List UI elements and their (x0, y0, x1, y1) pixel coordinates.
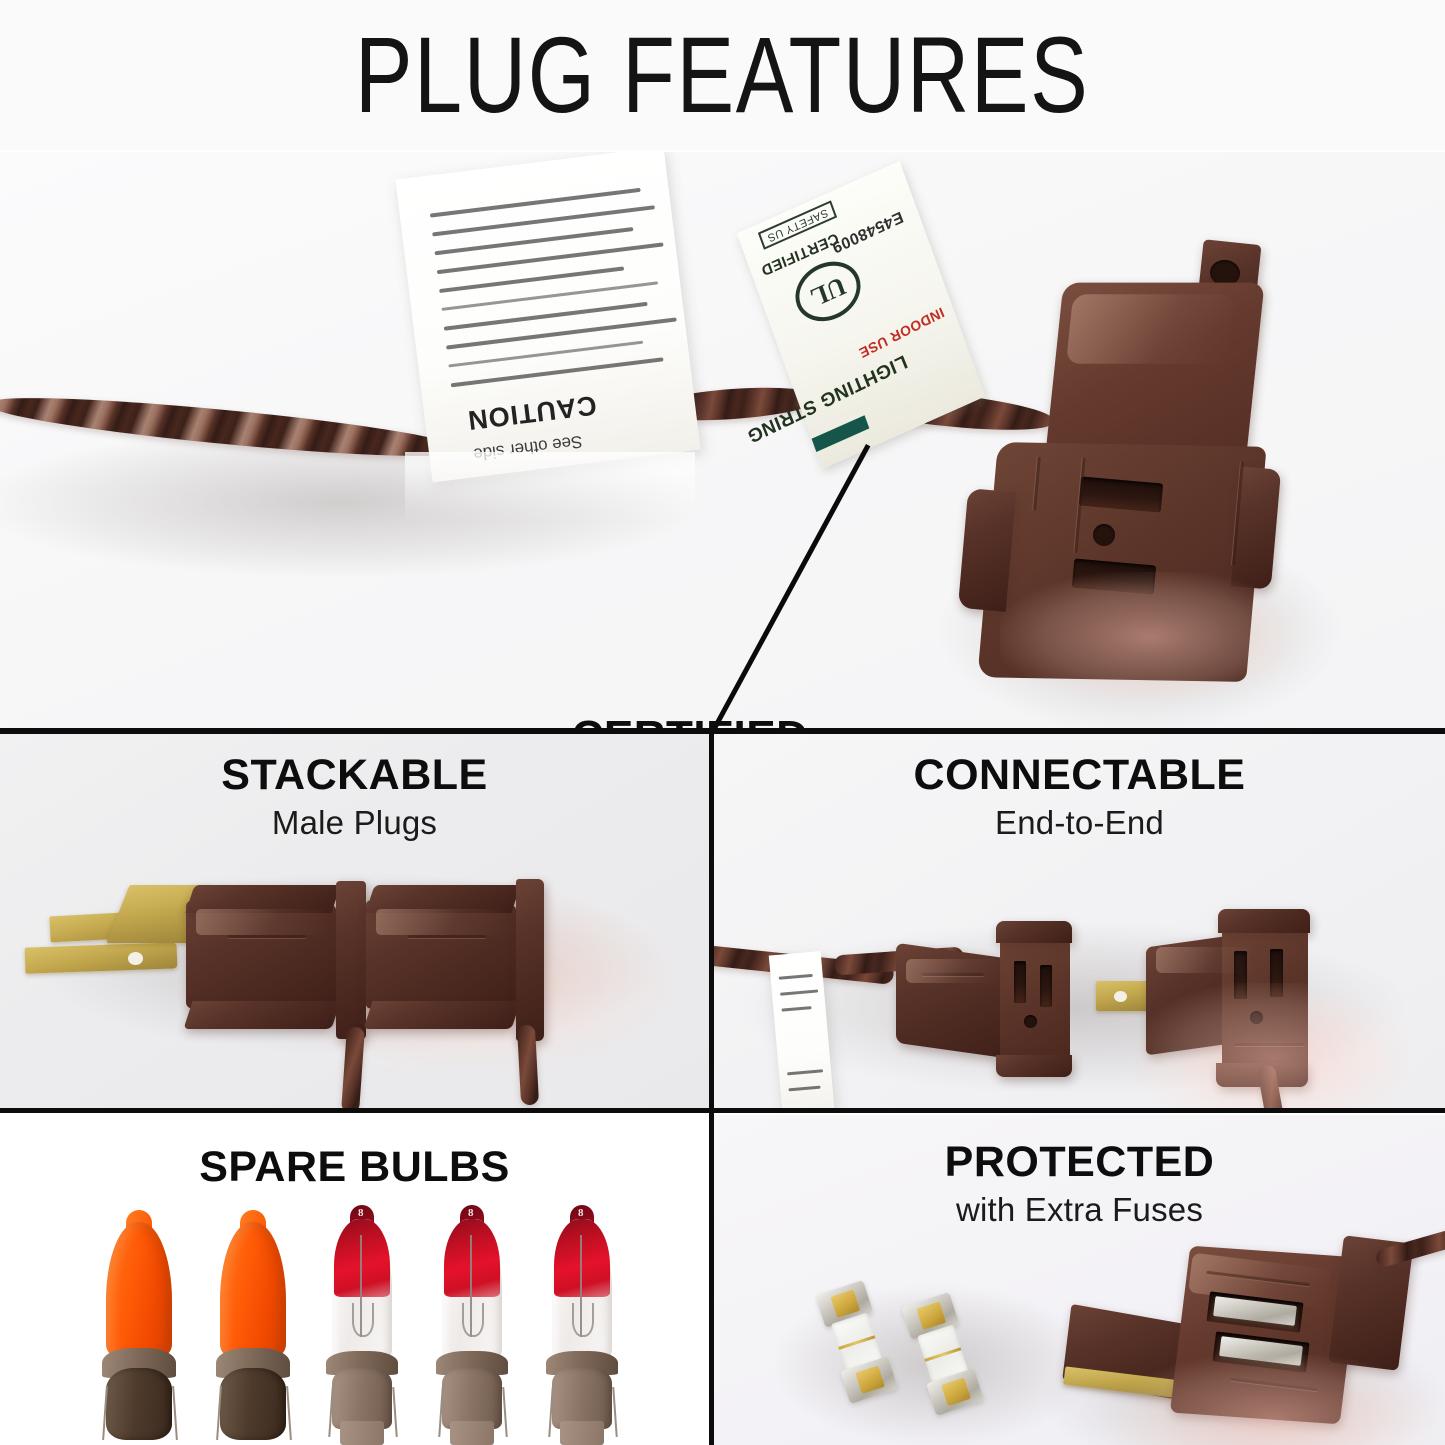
panel-hero-certified: CAUTION See other side SAFETY US CERTIFI… (0, 152, 1445, 730)
bulb-red-2-filament (462, 1303, 484, 1337)
connectable-title: CONNECTABLE (714, 753, 1445, 798)
bulb-red-2-tip-mark: 8 (468, 1207, 474, 1219)
bulb-red-1: 8 (322, 1205, 414, 1445)
male-plug-front-flange-bottom (183, 1001, 340, 1029)
male-prong-lower (25, 942, 178, 973)
panel-spare-bulbs: SPARE BULBS 8 (0, 1115, 709, 1445)
spare-bulbs-caption: SPARE BULBS (0, 1145, 709, 1190)
male-plug-back-flange-top (365, 885, 520, 913)
stackable-title: STACKABLE (0, 753, 709, 798)
caution-tag-heading: CAUTION (465, 389, 598, 436)
ul-file-number: E4548009 (829, 207, 905, 256)
stackable-cord-a (341, 1026, 365, 1110)
bulb-red-2-red-coat (444, 1219, 500, 1297)
bulb-orange-2-lead-right (286, 1386, 292, 1440)
bulb-orange-2-base (220, 1368, 286, 1440)
protected-subtitle: with Extra Fuses (714, 1192, 1445, 1228)
divider-horizontal-bottom (0, 1108, 1445, 1113)
male-plug-rear-cap (516, 879, 544, 1041)
caution-tag-footer: See other side (472, 431, 583, 464)
page-title: PLUG FEATURES (355, 21, 1090, 129)
caution-tag: CAUTION See other side (395, 152, 700, 482)
bulb-orange-1-glass (106, 1222, 172, 1358)
protected-title: PROTECTED (714, 1140, 1445, 1185)
male-plug-front-emboss (228, 935, 306, 938)
socket-left-flange-bottom (996, 1055, 1072, 1077)
bulb-red-1-lead-right (392, 1387, 397, 1437)
male-prong-lower-hole (128, 952, 143, 965)
bulb-red-2: 8 (432, 1205, 524, 1445)
male-plug-rib (336, 881, 366, 1039)
panel-stackable: STACKABLE Male Plugs (0, 733, 709, 1110)
bulb-orange-2 (210, 1210, 306, 1442)
bulb-red-1-tip-mark: 8 (358, 1207, 364, 1219)
bulb-orange-1-base (106, 1368, 172, 1440)
spare-bulbs-title: SPARE BULBS (0, 1145, 709, 1190)
bulb-red-1-red-coat (334, 1219, 390, 1297)
socket-left-body (896, 943, 1014, 1060)
bulb-red-3-filament (572, 1303, 594, 1337)
caution-tag-text-block: CAUTION See other side (395, 152, 700, 482)
bulb-red-3-foot (560, 1421, 604, 1445)
socket-right-emboss (1234, 1043, 1304, 1046)
male-plug-back-body (366, 900, 516, 1013)
connector-center-mark (1093, 524, 1115, 546)
connectable-caption: CONNECTABLE End-to-End (714, 753, 1445, 841)
socket-left-face (1000, 929, 1070, 1068)
bulb-orange-1-lead-right (172, 1386, 178, 1440)
infographic-canvas: PLUG FEATURES CAUTION (0, 0, 1445, 1445)
panel-connectable: CONNECTABLE End-to-End (714, 733, 1445, 1110)
male-plug-back-flange-bottom (363, 1001, 520, 1029)
bulb-red-3-base (552, 1367, 612, 1429)
bulb-orange-2-glass (220, 1222, 286, 1358)
bulb-red-2-foot (450, 1421, 494, 1445)
connectable-subtitle: End-to-End (714, 805, 1445, 841)
socket-left-slot-a (1014, 961, 1026, 1003)
socket-left-emboss (922, 973, 984, 976)
spare-fuse-2 (894, 1290, 993, 1421)
bulb-red-2-base (442, 1367, 502, 1429)
stackable-caption: STACKABLE Male Plugs (0, 753, 709, 841)
bulb-red-3-tip-mark: 8 (578, 1207, 584, 1219)
spare-fuse-1 (808, 1278, 907, 1409)
socket-left-slot-b (1040, 965, 1052, 1007)
certified-callout-title: CERTIFIED (455, 714, 925, 730)
socket-right-flange-top (1218, 909, 1310, 933)
stackable-subtitle: Male Plugs (0, 805, 709, 841)
bulb-red-3-red-coat (554, 1219, 610, 1297)
male-plug-front-flange-top (185, 885, 340, 913)
socket-right-slot-a (1234, 951, 1247, 999)
certified-callout: CERTIFIED for safety (455, 714, 925, 730)
bulb-red-1-filament (352, 1303, 374, 1337)
power-cord-left (0, 388, 461, 467)
bulb-red-3: 8 (542, 1205, 634, 1445)
bulb-red-3-lead-right (612, 1387, 617, 1437)
socket-left-flange-top (996, 921, 1072, 943)
bulb-red-2-lead-right (502, 1387, 507, 1437)
male-plug-back-emboss (408, 935, 486, 938)
socket-left-center-mark (1024, 1015, 1037, 1028)
protected-caption: PROTECTED with Extra Fuses (714, 1140, 1445, 1228)
bulb-red-1-base (332, 1367, 392, 1429)
socket-right-slot-b (1270, 949, 1283, 997)
header-bar: PLUG FEATURES (0, 0, 1445, 150)
bulb-orange-1 (96, 1210, 192, 1442)
bulb-red-1-foot (340, 1421, 384, 1445)
panel-protected: PROTECTED with Extra Fuses (714, 1115, 1445, 1445)
socket-right-prong-hole (1114, 991, 1127, 1002)
male-plug-front-body (186, 900, 336, 1013)
socket-right-center-mark (1250, 1011, 1263, 1024)
certified-leader-line (709, 444, 870, 730)
ul-green-band (812, 415, 870, 452)
